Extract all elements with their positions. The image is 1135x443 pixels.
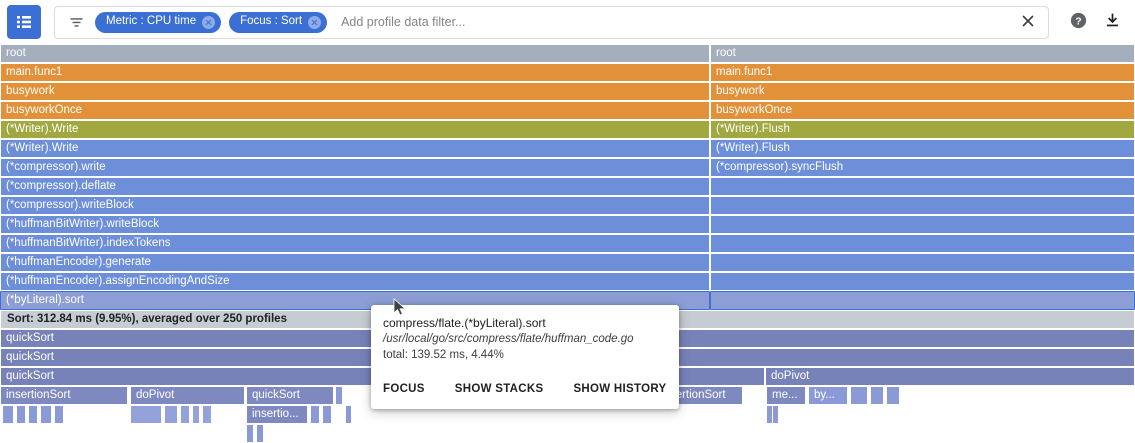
flame-frame-unlabeled[interactable] [710, 253, 1135, 272]
tooltip-total: total: 139.52 ms, 4.44% [383, 347, 667, 363]
flame-frame-label: (*compressor).write [6, 161, 106, 173]
flame-frame-unlabeled[interactable] [164, 405, 178, 424]
menu-button[interactable] [7, 5, 41, 39]
chip-remove-icon[interactable] [308, 16, 321, 29]
flame-frame-unlabeled[interactable] [335, 386, 343, 405]
filter-chip-metric[interactable]: Metric : CPU time [95, 12, 221, 33]
flame-frame-label: main.func1 [6, 66, 62, 78]
flame-frame-unlabeled[interactable] [710, 234, 1135, 253]
download-button[interactable] [1097, 7, 1127, 37]
flame-frame-unlabeled[interactable] [256, 424, 264, 443]
flame-frame-label: busyworkOnce [716, 104, 792, 116]
flame-frame[interactable]: busyworkOnce [0, 101, 710, 120]
flame-frame-label: root [716, 47, 736, 59]
filter-input[interactable] [339, 14, 1014, 30]
flame-frame[interactable]: (*compressor).writeBlock [0, 196, 710, 215]
svg-text:?: ? [1075, 15, 1081, 27]
flame-frame-unlabeled[interactable] [2, 405, 14, 424]
flame-frame[interactable]: doPivot [765, 367, 1135, 386]
flame-frame-label: quickSort [252, 389, 300, 401]
flame-frame-unlabeled[interactable] [710, 272, 1135, 291]
flame-frame-unlabeled[interactable] [850, 386, 868, 405]
flame-frame-unlabeled[interactable] [246, 424, 254, 443]
flame-frame-label: (*huffmanEncoder).assignEncodingAndSize [6, 275, 230, 287]
flame-frame[interactable]: by... [808, 386, 848, 405]
flame-frame[interactable]: (*huffmanEncoder).assignEncodingAndSize [0, 272, 710, 291]
flame-frame-label: (*compressor).writeBlock [6, 199, 134, 211]
flame-frame[interactable]: busywork [0, 82, 710, 101]
flame-frame-unlabeled[interactable] [870, 386, 884, 405]
flame-summary-label: Sort: 312.84 ms (9.95%), averaged over 2… [7, 313, 287, 325]
flame-frame-label: quickSort [6, 370, 54, 382]
chip-remove-icon[interactable] [202, 16, 215, 29]
flame-frame[interactable]: (*Writer).Write [0, 139, 710, 158]
flame-frame-unlabeled[interactable] [202, 405, 212, 424]
tooltip-function-name: compress/flate.(*byLiteral).sort [383, 315, 667, 331]
flame-frame[interactable]: (*Writer).Flush [710, 139, 1135, 158]
flame-frame[interactable]: (*compressor).deflate [0, 177, 710, 196]
flame-frame[interactable]: root [0, 44, 710, 63]
flame-frame[interactable]: (*compressor).write [0, 158, 710, 177]
tooltip-file-path: /usr/local/go/src/compress/flate/huffman… [383, 331, 667, 347]
flame-frame[interactable]: busywork [710, 82, 1135, 101]
help-button[interactable]: ? [1063, 7, 1093, 37]
flame-frame-unlabeled[interactable] [710, 291, 1135, 310]
flame-frame-unlabeled[interactable] [40, 405, 52, 424]
list-menu-icon [15, 13, 33, 31]
focus-button[interactable]: FOCUS [383, 383, 425, 395]
flame-frame-label: busywork [716, 85, 765, 97]
flame-frame-unlabeled[interactable] [772, 405, 779, 424]
frame-tooltip: compress/flate.(*byLiteral).sort /usr/lo… [371, 305, 679, 409]
flame-frame[interactable]: (*Writer).Write [0, 120, 710, 139]
flame-frame-label: doPivot [771, 370, 809, 382]
show-stacks-button[interactable]: SHOW STACKS [455, 383, 544, 395]
flame-frame-unlabeled[interactable] [16, 405, 26, 424]
show-history-button[interactable]: SHOW HISTORY [573, 383, 666, 395]
flame-frame-unlabeled[interactable] [710, 196, 1135, 215]
flame-frame-label: (*huffmanEncoder).generate [6, 256, 151, 268]
flame-frame-label: (*huffmanBitWriter).writeBlock [6, 218, 159, 230]
flame-frame-label: (*compressor).deflate [6, 180, 116, 192]
flame-frame-unlabeled[interactable] [54, 405, 64, 424]
help-circle-icon: ? [1070, 12, 1087, 32]
flame-frame[interactable]: main.func1 [0, 63, 710, 82]
filter-chip-focus-label: Focus : Sort [240, 16, 302, 28]
flame-frame-unlabeled[interactable] [130, 405, 162, 424]
filter-chip-focus[interactable]: Focus : Sort [229, 12, 327, 33]
flame-frame-label: by... [814, 389, 835, 401]
flame-frame-unlabeled[interactable] [710, 215, 1135, 234]
flame-frame-unlabeled[interactable] [710, 177, 1135, 196]
filter-funnel-icon[interactable] [65, 15, 87, 30]
flame-frame-label: (*Writer).Flush [716, 123, 790, 135]
flame-frame[interactable]: (*huffmanBitWriter).indexTokens [0, 234, 710, 253]
flame-frame[interactable]: (*compressor).syncFlush [710, 158, 1135, 177]
flame-frame-unlabeled[interactable] [192, 405, 200, 424]
filter-chip-metric-label: Metric : CPU time [106, 16, 196, 28]
tooltip-actions: FOCUS SHOW STACKS SHOW HISTORY [383, 369, 667, 409]
filter-bar[interactable]: Metric : CPU time Focus : Sort [54, 6, 1049, 39]
flame-frame[interactable]: insertionSort [0, 386, 128, 405]
flame-frame[interactable]: doPivot [130, 386, 245, 405]
flame-frame[interactable]: me... [766, 386, 806, 405]
flame-frame-unlabeled[interactable] [322, 405, 332, 424]
flame-frame-label: (*Writer).Flush [716, 142, 790, 154]
flame-frame-label: quickSort [6, 332, 54, 344]
clear-filter-button[interactable] [1014, 8, 1042, 36]
flame-frame-label: me... [772, 389, 798, 401]
flame-frame-label: root [6, 47, 26, 59]
flame-frame[interactable]: (*Writer).Flush [710, 120, 1135, 139]
mouse-cursor-icon [393, 298, 407, 320]
flame-frame-label: (*compressor).syncFlush [716, 161, 843, 173]
flame-frame-unlabeled[interactable] [180, 405, 190, 424]
flame-frame-label: (*Writer).Write [6, 142, 78, 154]
flame-frame-unlabeled[interactable] [310, 405, 320, 424]
flame-frame-label: insertionSort [6, 389, 71, 401]
flame-frame-label: busywork [6, 85, 55, 97]
close-icon [1020, 13, 1036, 32]
flame-frame-label: doPivot [136, 389, 174, 401]
flame-frame[interactable]: busyworkOnce [710, 101, 1135, 120]
flame-frame-label: insertio... [252, 408, 299, 420]
flame-frame[interactable]: quickSort [246, 386, 334, 405]
flame-frame[interactable]: (*huffmanEncoder).generate [0, 253, 710, 272]
toolbar: Metric : CPU time Focus : Sort ? [0, 0, 1135, 44]
download-icon [1104, 12, 1121, 32]
flame-frame[interactable]: (*huffmanBitWriter).writeBlock [0, 215, 710, 234]
flame-frame-label: (*Writer).Write [6, 123, 78, 135]
flame-frame-label: main.func1 [716, 66, 772, 78]
flame-frame[interactable]: insertio... [246, 405, 308, 424]
flame-frame-label: (*byLiteral).sort [6, 294, 84, 306]
flame-frame[interactable]: root [710, 44, 1135, 63]
flame-frame-label: (*huffmanBitWriter).indexTokens [6, 237, 170, 249]
flame-frame[interactable]: main.func1 [710, 63, 1135, 82]
flame-frame-label: quickSort [6, 351, 54, 363]
flame-frame-unlabeled[interactable] [345, 405, 352, 424]
flame-frame-unlabeled[interactable] [886, 386, 900, 405]
flame-frame-unlabeled[interactable] [28, 405, 38, 424]
flame-frame-label: busyworkOnce [6, 104, 82, 116]
